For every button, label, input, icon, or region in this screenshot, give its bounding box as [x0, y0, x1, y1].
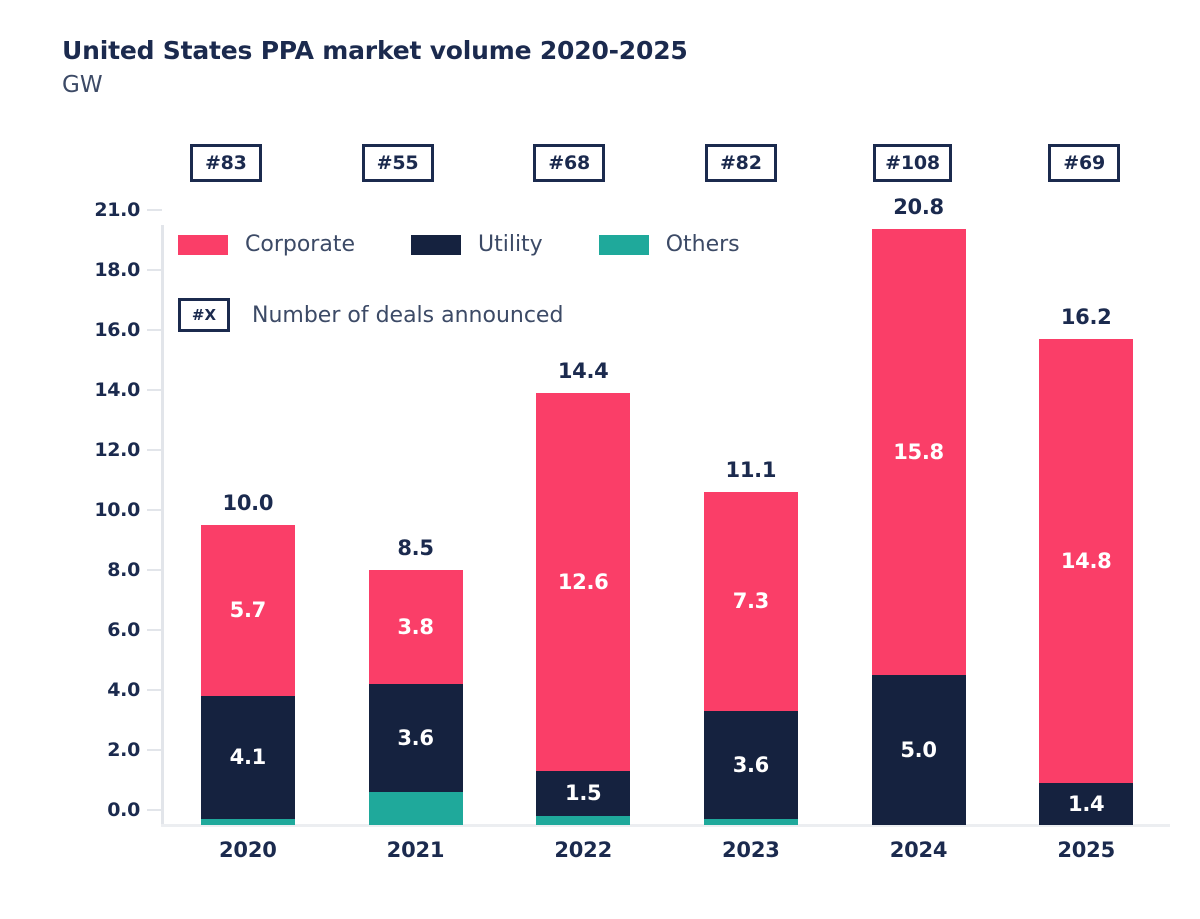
- legend: CorporateUtilityOthers: [178, 232, 796, 257]
- y-axis-tick-label: 16.0: [94, 319, 140, 341]
- bar-stack[interactable]: 14.81.4: [1039, 339, 1133, 825]
- deal-count-example-label: #X: [192, 306, 216, 324]
- bar-segment-others[interactable]: [201, 819, 295, 825]
- bar-segment-value: 5.7: [230, 600, 266, 621]
- legend-item-others[interactable]: Others: [599, 232, 740, 257]
- legend-swatch-icon: [599, 235, 649, 255]
- x-axis-label-cell: 2025: [1002, 838, 1170, 862]
- legend-item-corporate[interactable]: Corporate: [178, 232, 355, 257]
- bar-segment-utility[interactable]: 3.6: [704, 711, 798, 819]
- y-axis-tick-mark: [147, 809, 162, 811]
- bar-total-label: 16.2: [1061, 305, 1112, 329]
- bar-segment-value: 3.6: [733, 755, 769, 776]
- bar-stack[interactable]: 5.74.1: [201, 525, 295, 825]
- x-axis-label: 2023: [722, 838, 780, 862]
- y-axis-tick-mark: [147, 449, 162, 451]
- legend-label: Corporate: [245, 232, 355, 257]
- y-axis-tick-label: 6.0: [107, 619, 140, 641]
- y-axis-tick-label: 21.0: [94, 199, 140, 221]
- bar-segment-value: 3.8: [397, 617, 433, 638]
- bar-segment-value: 3.6: [397, 728, 433, 749]
- y-axis-tick-mark: [147, 509, 162, 511]
- y-axis-tick-mark: [147, 269, 162, 271]
- deal-count-example-box: #X: [178, 298, 230, 332]
- bar-stack[interactable]: 7.33.6: [704, 492, 798, 825]
- bar-segment-value: 1.5: [565, 783, 601, 804]
- bar-segment-value: 4.1: [230, 747, 266, 768]
- x-axis-label: 2024: [890, 838, 948, 862]
- bar-segment-others[interactable]: [536, 816, 630, 825]
- y-axis-tick-label: 14.0: [94, 379, 140, 401]
- legend-label: Utility: [478, 232, 543, 257]
- x-axis-label-cell: 2020: [164, 838, 332, 862]
- x-axis-label: 2020: [219, 838, 277, 862]
- legend-label: Others: [666, 232, 740, 257]
- bar-segment-value: 14.8: [1061, 551, 1112, 572]
- x-axis-label: 2022: [554, 838, 612, 862]
- bar-total-label: 20.8: [893, 195, 944, 219]
- y-axis-tick-label: 8.0: [107, 559, 140, 581]
- bar-segment-value: 1.4: [1068, 794, 1104, 815]
- bar-total-label: 11.1: [726, 458, 777, 482]
- legend-swatch-icon: [411, 235, 461, 255]
- bar-segment-utility[interactable]: 5.0: [872, 675, 966, 825]
- y-axis-tick-label: 2.0: [107, 739, 140, 761]
- bar-segment-value: 5.0: [900, 740, 936, 761]
- x-axis-label: 2025: [1057, 838, 1115, 862]
- bar-segment-corporate[interactable]: 12.6: [536, 393, 630, 771]
- y-axis-tick-mark: [147, 209, 162, 211]
- y-axis-tick-mark: [147, 329, 162, 331]
- bar-segment-others[interactable]: [704, 819, 798, 825]
- bar-segment-others[interactable]: [369, 792, 463, 825]
- bar-segment-value: 12.6: [558, 572, 609, 593]
- chart-plot-area: 0.02.04.06.08.010.012.014.016.018.021.0 …: [0, 0, 1200, 919]
- y-axis-tick-label: 0.0: [107, 799, 140, 821]
- bar-segment-utility[interactable]: 1.4: [1039, 783, 1133, 825]
- x-axis-labels: 202020212022202320242025: [164, 838, 1170, 862]
- y-axis-tick-label: 12.0: [94, 439, 140, 461]
- bar-total-label: 14.4: [558, 359, 609, 383]
- bar-segment-value: 7.3: [733, 591, 769, 612]
- x-axis-label: 2021: [387, 838, 445, 862]
- bar-column[interactable]: 7.33.611.1: [667, 225, 835, 825]
- y-axis: 0.02.04.06.08.010.012.014.016.018.021.0: [70, 210, 162, 835]
- bar-stack[interactable]: 12.61.5: [536, 393, 630, 825]
- y-axis-tick-mark: [147, 629, 162, 631]
- legend-item-utility[interactable]: Utility: [411, 232, 543, 257]
- bar-column[interactable]: 14.81.416.2: [1002, 225, 1170, 825]
- bar-segment-utility[interactable]: 4.1: [201, 696, 295, 819]
- bar-segment-utility[interactable]: 1.5: [536, 771, 630, 816]
- y-axis-tick-mark: [147, 389, 162, 391]
- legend-note: #X Number of deals announced: [178, 298, 563, 332]
- bar-segment-corporate[interactable]: 15.8: [872, 229, 966, 675]
- bar-segment-corporate[interactable]: 3.8: [369, 570, 463, 684]
- y-axis-tick-label: 4.0: [107, 679, 140, 701]
- bar-segment-corporate[interactable]: 7.3: [704, 492, 798, 711]
- x-axis-label-cell: 2023: [667, 838, 835, 862]
- x-axis-label-cell: 2022: [499, 838, 667, 862]
- y-axis-tick-mark: [147, 689, 162, 691]
- y-axis-tick-label: 10.0: [94, 499, 140, 521]
- bar-segment-value: 15.8: [893, 442, 944, 463]
- x-axis-label-cell: 2021: [332, 838, 500, 862]
- legend-swatch-icon: [178, 235, 228, 255]
- bar-stack[interactable]: 15.85.0: [872, 229, 966, 825]
- bar-stack[interactable]: 3.83.6: [369, 570, 463, 825]
- y-axis-tick-label: 18.0: [94, 259, 140, 281]
- x-axis-label-cell: 2024: [835, 838, 1003, 862]
- bar-total-label: 8.5: [397, 536, 433, 560]
- bar-total-label: 10.0: [223, 491, 274, 515]
- legend-note-text: Number of deals announced: [252, 303, 563, 328]
- y-axis-tick-mark: [147, 749, 162, 751]
- bar-segment-utility[interactable]: 3.6: [369, 684, 463, 792]
- bar-column[interactable]: 15.85.020.8: [835, 225, 1003, 825]
- bar-segment-corporate[interactable]: 5.7: [201, 525, 295, 696]
- bar-segment-corporate[interactable]: 14.8: [1039, 339, 1133, 783]
- y-axis-tick-mark: [147, 569, 162, 571]
